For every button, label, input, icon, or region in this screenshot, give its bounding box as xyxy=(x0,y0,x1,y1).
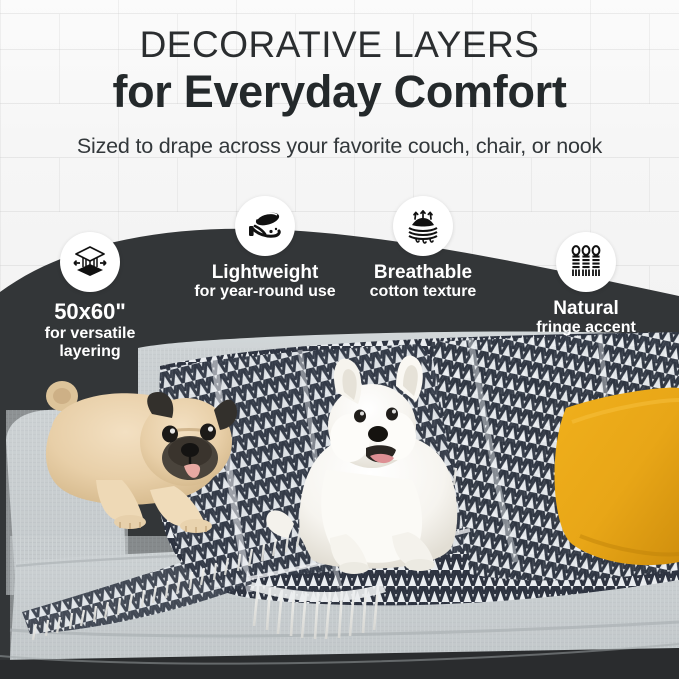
badge-subtitle-line1: cotton texture xyxy=(349,283,497,301)
header-block: DECORATIVE LAYERS for Everyday Comfort S… xyxy=(0,0,679,159)
badge-title: Breathable xyxy=(349,262,497,283)
feature-badge-size[interactable]: 50x60" for versatile layering xyxy=(26,232,154,361)
feature-badge-lightweight[interactable]: Lightweight for year-round use xyxy=(171,196,359,302)
headline-primary: DECORATIVE LAYERS xyxy=(0,25,679,65)
product-photo xyxy=(0,330,679,679)
badge-circle xyxy=(60,232,120,292)
badge-subtitle-line2: layering xyxy=(26,343,154,361)
product-infographic: DECORATIVE LAYERS for Everyday Comfort S… xyxy=(0,0,679,679)
feature-badge-natural[interactable]: Natural fringe accent xyxy=(521,232,651,338)
badge-title: Natural xyxy=(521,298,651,319)
badge-circle xyxy=(393,196,453,256)
badge-subtitle-line1: for year-round use xyxy=(171,283,359,301)
badge-circle xyxy=(556,232,616,292)
headline-subtitle: Sized to drape across your favorite couc… xyxy=(0,134,679,159)
badge-subtitle-line1: for versatile xyxy=(26,325,154,343)
feature-badge-breathable[interactable]: Breathable cotton texture xyxy=(349,196,497,302)
badge-title: Lightweight xyxy=(171,262,359,283)
headline-secondary: for Everyday Comfort xyxy=(0,68,679,117)
badge-title: 50x60" xyxy=(26,300,154,325)
badge-circle xyxy=(235,196,295,256)
badge-subtitle-line1: fringe accent xyxy=(521,319,651,337)
